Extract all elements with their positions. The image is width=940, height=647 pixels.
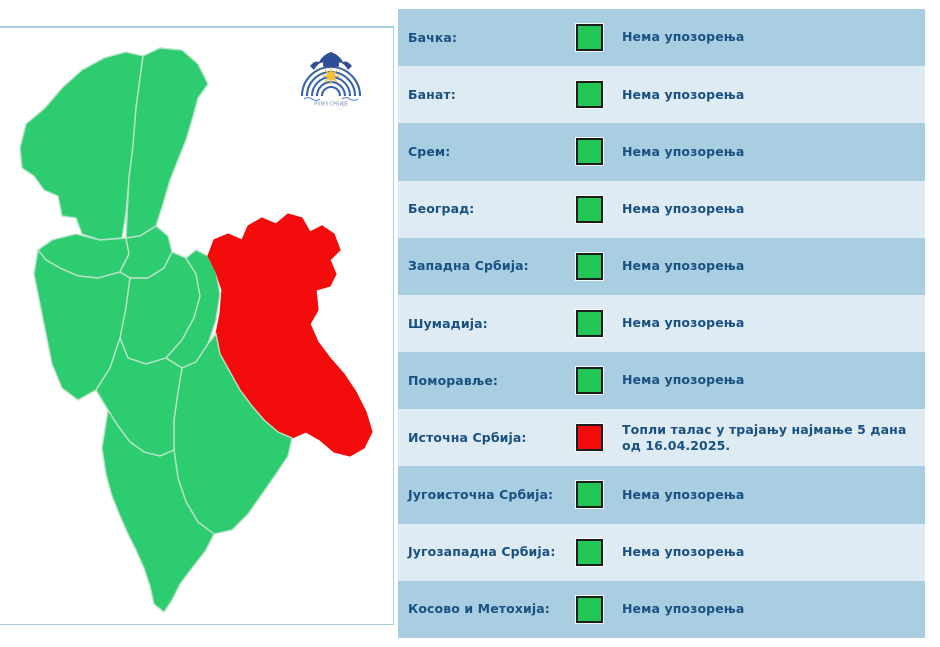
warning-text: Нема упозорења bbox=[622, 258, 925, 274]
map-panel: РХМЗ СРБИЈЕ bbox=[0, 27, 394, 625]
warning-level-swatch-green bbox=[576, 24, 603, 51]
warning-level-swatch-green bbox=[576, 253, 603, 280]
region-label: Западна Србија: bbox=[408, 258, 576, 274]
warning-level-swatch-green bbox=[576, 481, 603, 508]
region-label: Шумадија: bbox=[408, 316, 576, 332]
warning-row: Банат:Нема упозорења bbox=[398, 66, 925, 123]
warning-text: Нема упозорења bbox=[622, 601, 925, 617]
map-region-backa[interactable] bbox=[20, 52, 143, 240]
warning-text: Нема упозорења bbox=[622, 487, 925, 503]
warning-text: Нема упозорења bbox=[622, 144, 925, 160]
warning-row: Бачка:Нема упозорења bbox=[398, 9, 925, 66]
regional-warnings-table: Бачка:Нема упозорењаБанат:Нема упозорења… bbox=[398, 9, 925, 638]
warning-text: Нема упозорења bbox=[622, 29, 925, 45]
region-label: Поморавље: bbox=[408, 373, 576, 389]
warning-level-swatch-green bbox=[576, 310, 603, 337]
warning-row: Поморавље:Нема упозорења bbox=[398, 352, 925, 409]
rhmz-serbia-logo: РХМЗ СРБИЈЕ bbox=[298, 46, 364, 108]
region-label: Источна Србија: bbox=[408, 430, 576, 446]
warning-row: Шумадија:Нема упозорења bbox=[398, 295, 925, 352]
region-label: Банат: bbox=[408, 87, 576, 103]
warning-level-cell bbox=[576, 310, 622, 337]
page-root: РХМЗ СРБИЈЕ Бачка:Нема упозорењаБанат:Не… bbox=[0, 0, 940, 647]
region-label: Југоисточна Србија: bbox=[408, 487, 576, 503]
warning-level-cell bbox=[576, 424, 622, 451]
warning-row: Срем:Нема упозорења bbox=[398, 123, 925, 180]
warning-level-swatch-green bbox=[576, 138, 603, 165]
warning-level-swatch-green bbox=[576, 539, 603, 566]
region-label: Југозападна Србија: bbox=[408, 544, 576, 560]
warning-level-swatch-green bbox=[576, 367, 603, 394]
warning-row: Косово и Метохија:Нема упозорења bbox=[398, 581, 925, 638]
warning-level-swatch-red bbox=[576, 424, 603, 451]
serbia-regions-map[interactable] bbox=[0, 28, 394, 626]
warning-row: Београд:Нема упозорења bbox=[398, 181, 925, 238]
warning-level-cell bbox=[576, 138, 622, 165]
warning-level-cell bbox=[576, 481, 622, 508]
warning-text: Топли талас у трајању најмање 5 дана од … bbox=[622, 422, 925, 455]
logo-caption: РХМЗ СРБИЈЕ bbox=[314, 102, 348, 108]
warning-text: Нема упозорења bbox=[622, 201, 925, 217]
region-label: Београд: bbox=[408, 201, 576, 217]
warning-text: Нема упозорења bbox=[622, 87, 925, 103]
warning-level-swatch-green bbox=[576, 196, 603, 223]
region-label: Бачка: bbox=[408, 30, 576, 46]
warning-row: Западна Србија:Нема упозорења bbox=[398, 238, 925, 295]
warning-level-cell bbox=[576, 596, 622, 623]
warning-level-swatch-green bbox=[576, 596, 603, 623]
region-label: Срем: bbox=[408, 144, 576, 160]
warning-level-swatch-green bbox=[576, 81, 603, 108]
warning-level-cell bbox=[576, 81, 622, 108]
warning-level-cell bbox=[576, 367, 622, 394]
warning-text: Нема упозорења bbox=[622, 544, 925, 560]
warning-level-cell bbox=[576, 253, 622, 280]
warning-level-cell bbox=[576, 539, 622, 566]
warning-text: Нема упозорења bbox=[622, 372, 925, 388]
warning-row: Југоисточна Србија:Нема упозорења bbox=[398, 466, 925, 523]
warning-row: Источна Србија:Топли талас у трајању нај… bbox=[398, 409, 925, 466]
warning-level-cell bbox=[576, 24, 622, 51]
region-label: Косово и Метохија: bbox=[408, 601, 576, 617]
warning-text: Нема упозорења bbox=[622, 315, 925, 331]
warning-row: Југозападна Србија:Нема упозорења bbox=[398, 524, 925, 581]
warning-level-cell bbox=[576, 196, 622, 223]
